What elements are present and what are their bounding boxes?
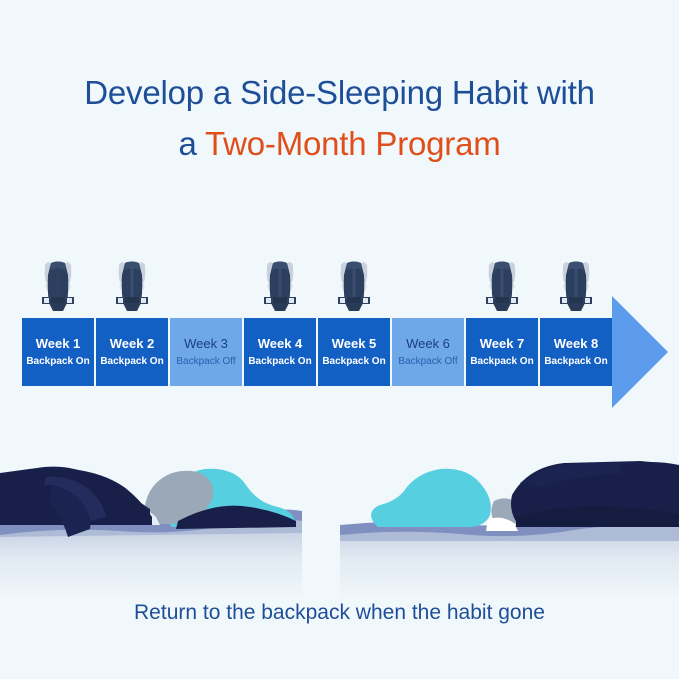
week-status: Backpack On (100, 357, 163, 367)
title-line-2-prefix: a (178, 125, 205, 162)
week-status: Backpack On (322, 357, 385, 367)
icon-cell-week-8 (540, 253, 612, 315)
week-status: Backpack On (26, 357, 89, 367)
posture-backpack-icon (480, 259, 524, 315)
week-block-8[interactable]: Week 8 Backpack On (540, 318, 612, 386)
caption-text: Return to the backpack when the habit go… (0, 601, 679, 625)
week-status: Backpack On (248, 357, 311, 367)
week-block-7[interactable]: Week 7 Backpack On (466, 318, 538, 386)
week-label: Week 4 (258, 337, 303, 350)
week-block-2[interactable]: Week 2 Backpack On (96, 318, 168, 386)
posture-backpack-icon (554, 259, 598, 315)
week-block-6[interactable]: Week 6 Backpack Off (392, 318, 464, 386)
backpack-icon-row (22, 253, 612, 315)
sleeper-left (0, 467, 302, 600)
week-status: Backpack Off (398, 357, 457, 367)
icon-cell-week-6 (392, 253, 464, 315)
page-title: Develop a Side-Sleeping Habit with a Two… (0, 72, 679, 166)
week-label: Week 2 (110, 337, 155, 350)
posture-backpack-icon (36, 259, 80, 315)
title-line-2: a Two-Month Program (0, 123, 679, 166)
icon-cell-week-1 (22, 253, 94, 315)
week-block-4[interactable]: Week 4 Backpack On (244, 318, 316, 386)
side-sleeping-illustration (0, 425, 679, 600)
timeline-arrow-icon (612, 296, 668, 408)
week-status: Backpack Off (176, 357, 235, 367)
week-label: Week 7 (480, 337, 525, 350)
icon-cell-week-7 (466, 253, 538, 315)
week-label: Week 5 (332, 337, 377, 350)
week-status: Backpack On (544, 357, 607, 367)
week-label: Week 3 (184, 337, 228, 350)
week-label: Week 8 (554, 337, 599, 350)
icon-cell-week-4 (244, 253, 316, 315)
week-block-1[interactable]: Week 1 Backpack On (22, 318, 94, 386)
posture-backpack-icon (110, 259, 154, 315)
week-label: Week 1 (36, 337, 81, 350)
program-timeline: Week 1 Backpack On Week 2 Backpack On We… (22, 318, 612, 386)
posture-backpack-icon (258, 259, 302, 315)
week-status: Backpack On (470, 357, 533, 367)
icon-cell-week-3 (170, 253, 242, 315)
posture-backpack-icon (332, 259, 376, 315)
poster-root: Develop a Side-Sleeping Habit with a Two… (0, 0, 679, 679)
week-label: Week 6 (406, 337, 450, 350)
icon-cell-week-5 (318, 253, 390, 315)
week-block-3[interactable]: Week 3 Backpack Off (170, 318, 242, 386)
week-block-5[interactable]: Week 5 Backpack On (318, 318, 390, 386)
icon-cell-week-2 (96, 253, 168, 315)
sleeper-right (340, 461, 679, 600)
title-line-1: Develop a Side-Sleeping Habit with (0, 72, 679, 115)
title-line-2-accent: Two-Month Program (205, 125, 501, 162)
